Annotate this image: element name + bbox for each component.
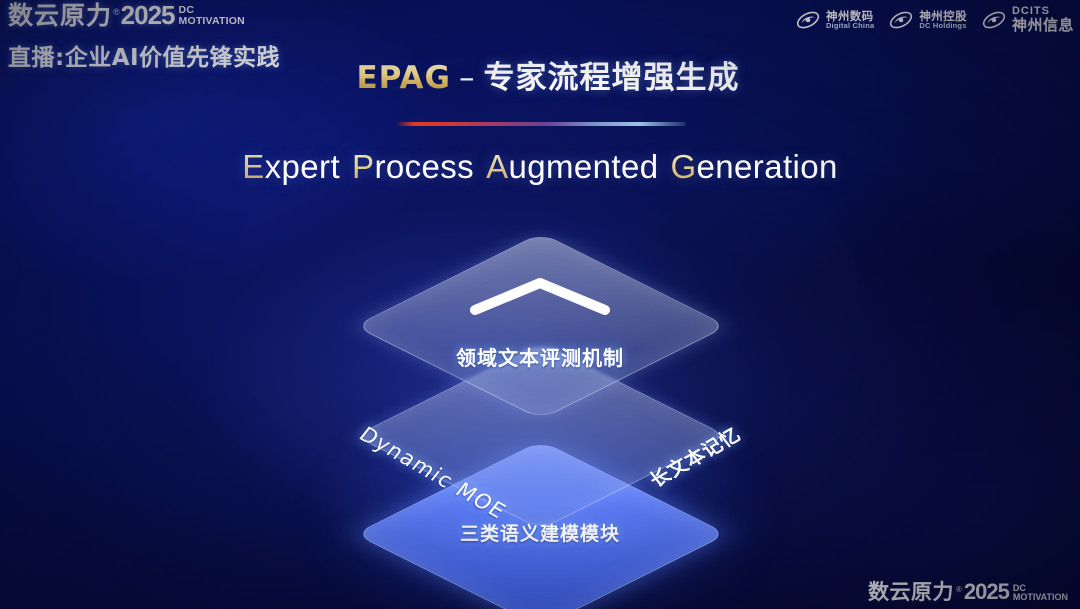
- subtitle-rest-augmented: ugmented: [508, 148, 658, 185]
- partner-name-en: Digital China: [826, 22, 874, 30]
- watermark-year: 2025: [964, 581, 1009, 603]
- headline-acronym: EPAG: [357, 60, 452, 96]
- subtitle-word-expert: Expert: [242, 148, 340, 185]
- swoosh-spiral-icon: [795, 8, 821, 32]
- subtitle-cap-a: A: [486, 148, 508, 185]
- swoosh-spiral-icon: [888, 8, 914, 32]
- brand-registered-mark: ®: [113, 8, 120, 17]
- slide-canvas: 数云原力 ® 2025 DC MOTIVATION 直播:企业AI价值先锋实践 …: [0, 0, 1080, 609]
- subtitle-word-augmented: Augmented: [486, 148, 658, 185]
- watermark-registered-mark: ®: [956, 586, 962, 594]
- headline-text: EPAG–专家流程增强生成: [357, 52, 740, 97]
- partner-name-block: 神州控股 DC Holdings: [919, 10, 967, 30]
- partner-logo-dc-holdings: 神州控股 DC Holdings: [888, 8, 967, 32]
- partner-name-cn: 神州数码: [826, 10, 874, 22]
- subtitle-rest-process: rocess: [374, 148, 474, 185]
- stack-layer-top[interactable]: [354, 233, 727, 420]
- partner-logo-dcits: 神州信息 DCITS: [981, 6, 1074, 33]
- partner-name-cn: 神州控股: [919, 10, 967, 22]
- subtitle: ExpertProcessAugmentedGeneration: [0, 148, 1080, 186]
- brand-dc-motivation: DC MOTIVATION: [179, 5, 245, 27]
- partner-name-block: 神州数码 Digital China: [826, 10, 874, 30]
- brand-name-cn: 数云原力: [8, 3, 112, 28]
- subtitle-cap-e: E: [242, 148, 264, 185]
- brand-logo: 数云原力 ® 2025 DC MOTIVATION: [8, 2, 328, 28]
- partner-logo-digital-china: 神州数码 Digital China: [795, 8, 874, 32]
- brand-motivation-label: MOTIVATION: [179, 16, 245, 27]
- headline-chinese: 专家流程增强生成: [484, 60, 740, 96]
- partner-logo-group: 神州数码 Digital China 神州控股 DC Holdings: [795, 6, 1074, 33]
- headline: EPAG–专家流程增强生成: [0, 52, 1080, 97]
- subtitle-word-generation: Generation: [670, 148, 837, 185]
- subtitle-cap-p: P: [352, 148, 374, 185]
- swoosh-spiral-icon: [981, 8, 1007, 32]
- partner-name-block: 神州信息 DCITS: [1012, 6, 1074, 33]
- partner-name-en: DC Holdings: [919, 22, 967, 30]
- watermark-motivation-label: MOTIVATION: [1013, 593, 1068, 602]
- subtitle-rest-generation: eneration: [697, 148, 838, 185]
- subtitle-cap-g: G: [670, 148, 696, 185]
- gradient-divider: [396, 122, 686, 126]
- brand-year: 2025: [121, 2, 175, 28]
- watermark-dc-motivation: DC MOTIVATION: [1013, 584, 1068, 602]
- partner-name-cn: 神州信息: [1012, 18, 1074, 34]
- layer-stack-diagram: 领域文本评测机制 Dynamic MOE 长文本记忆 三类语义建模模块: [290, 232, 790, 572]
- watermark-logo: 数云原力 ® 2025 DC MOTIVATION: [868, 581, 1068, 603]
- watermark-name-cn: 数云原力: [868, 582, 954, 603]
- subtitle-rest-expert: xpert: [265, 148, 340, 185]
- subtitle-word-process: Process: [352, 148, 474, 185]
- headline-dash: –: [451, 60, 484, 96]
